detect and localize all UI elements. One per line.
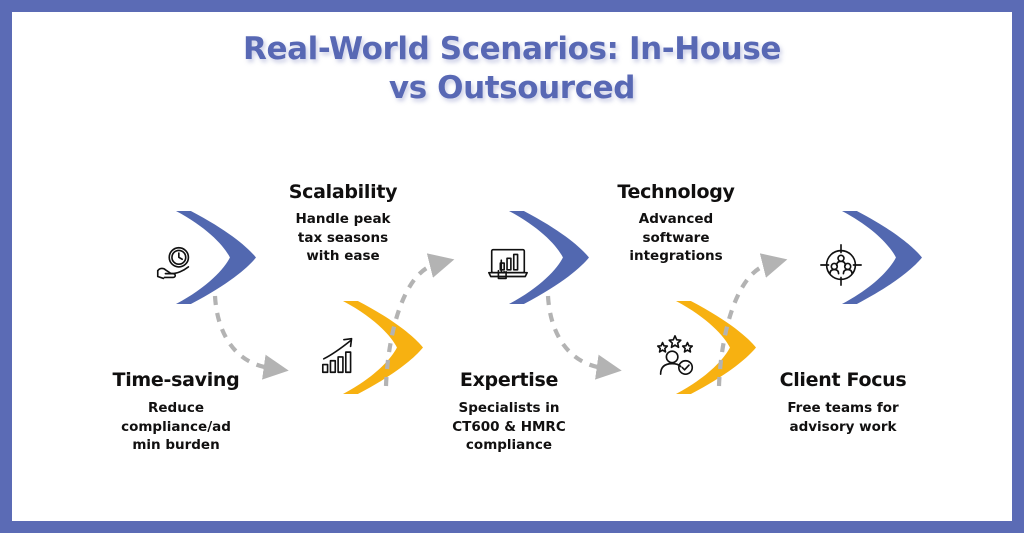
growth-chart-icon <box>318 332 364 378</box>
connector-3 <box>548 296 603 368</box>
desc-line: compliance/ad <box>76 418 276 437</box>
step-scalability[interactable]: Scalability Handle peak tax seasons with… <box>243 181 443 266</box>
desc-line: CT600 & HMRC <box>409 418 609 437</box>
desc-line: advisory work <box>743 418 943 437</box>
step-expertise[interactable]: Expertise Specialists in CT600 & HMRC co… <box>409 369 609 455</box>
desc-line: Advanced <box>576 210 776 229</box>
step-desc-time-saving: Reduce compliance/ad min burden <box>76 399 276 455</box>
person-stars-check-icon <box>652 332 698 378</box>
step-client-focus[interactable]: Client Focus Free teams for advisory wor… <box>743 369 943 436</box>
step-heading-expertise: Expertise <box>409 369 609 392</box>
step-heading-technology: Technology <box>576 181 776 204</box>
connector-1 <box>215 296 270 368</box>
hand-clock-icon <box>152 242 198 288</box>
step-technology[interactable]: Technology Advanced software integration… <box>576 181 776 266</box>
monitor-chart-hand-icon <box>485 242 531 288</box>
desc-line: integrations <box>576 247 776 266</box>
desc-line: Free teams for <box>743 399 943 418</box>
step-desc-scalability: Handle peak tax seasons with ease <box>243 210 443 266</box>
step-heading-client-focus: Client Focus <box>743 369 943 392</box>
diagram-stage: Real-World Scenarios: In-House vs Outsou… <box>12 12 1012 521</box>
desc-line: Specialists in <box>409 399 609 418</box>
target-people-icon <box>818 242 864 288</box>
desc-line: min burden <box>76 436 276 455</box>
desc-line: Reduce <box>76 399 276 418</box>
step-desc-technology: Advanced software integrations <box>576 210 776 266</box>
desc-line: with ease <box>243 247 443 266</box>
desc-line: Handle peak <box>243 210 443 229</box>
step-heading-time-saving: Time-saving <box>76 369 276 392</box>
step-heading-scalability: Scalability <box>243 181 443 204</box>
step-desc-expertise: Specialists in CT600 & HMRC compliance <box>409 399 609 455</box>
desc-line: software <box>576 229 776 248</box>
step-desc-client-focus: Free teams for advisory work <box>743 399 943 436</box>
step-time-saving[interactable]: Time-saving Reduce compliance/ad min bur… <box>76 369 276 455</box>
infographic-canvas: Real-World Scenarios: In-House vs Outsou… <box>0 0 1024 533</box>
desc-line: compliance <box>409 436 609 455</box>
desc-line: tax seasons <box>243 229 443 248</box>
